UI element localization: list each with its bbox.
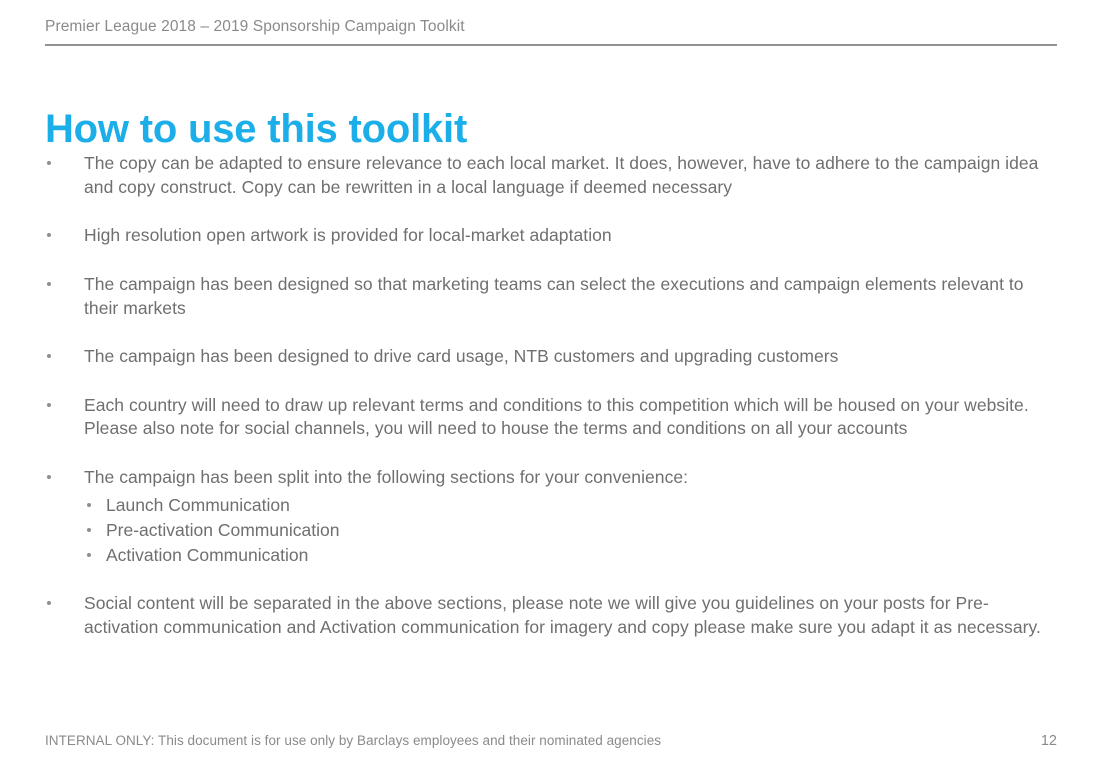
sub-bullet-dot-icon (87, 503, 91, 507)
sub-bullet-dot-icon (87, 553, 91, 557)
bullet-dot-icon (47, 354, 51, 358)
sub-list-item: Activation Communication (84, 543, 1057, 567)
bullet-dot-icon (47, 282, 51, 286)
list-item: High resolution open artwork is provided… (45, 224, 1057, 248)
list-item: Social content will be separated in the … (45, 592, 1057, 639)
bullet-dot-icon (47, 233, 51, 237)
bullet-text: Social content will be separated in the … (84, 592, 1057, 639)
bullet-text: The campaign has been designed so that m… (84, 273, 1057, 320)
sub-list-item: Pre-activation Communication (84, 518, 1057, 542)
bullet-dot-icon (47, 161, 51, 165)
sub-bullet-text: Launch Communication (106, 493, 1057, 517)
list-item: Each country will need to draw up releva… (45, 394, 1057, 441)
list-item: The campaign has been designed to drive … (45, 345, 1057, 369)
list-item: The copy can be adapted to ensure releva… (45, 152, 1057, 199)
bullet-dot-icon (47, 475, 51, 479)
bullet-dot-icon (47, 601, 51, 605)
list-item: The campaign has been designed so that m… (45, 273, 1057, 320)
page-title: How to use this toolkit (45, 107, 467, 151)
sub-bullet-text: Activation Communication (106, 543, 1057, 567)
bullet-text: High resolution open artwork is provided… (84, 224, 1057, 248)
bullet-text: The campaign has been designed to drive … (84, 345, 1057, 369)
sub-bullet-dot-icon (87, 528, 91, 532)
slide-footer: INTERNAL ONLY: This document is for use … (45, 733, 1057, 749)
page-number: 12 (1041, 733, 1057, 749)
sub-bullet-list: Launch Communication Pre-activation Comm… (84, 493, 1057, 567)
header-title: Premier League 2018 – 2019 Sponsorship C… (45, 18, 1057, 37)
bullet-text: The campaign has been split into the fol… (84, 466, 1057, 490)
sub-bullet-text: Pre-activation Communication (106, 518, 1057, 542)
bullet-dot-icon (47, 403, 51, 407)
slide-header: Premier League 2018 – 2019 Sponsorship C… (45, 18, 1057, 46)
bullet-list: The copy can be adapted to ensure releva… (45, 152, 1057, 639)
header-divider (45, 44, 1057, 46)
bullet-text: The copy can be adapted to ensure releva… (84, 152, 1057, 199)
slide: Premier League 2018 – 2019 Sponsorship C… (0, 0, 1100, 777)
bullet-text: Each country will need to draw up releva… (84, 394, 1057, 441)
list-item-with-sublist: The campaign has been split into the fol… (45, 466, 1057, 567)
sub-list-item: Launch Communication (84, 493, 1057, 517)
footer-confidentiality-note: INTERNAL ONLY: This document is for use … (45, 733, 661, 748)
